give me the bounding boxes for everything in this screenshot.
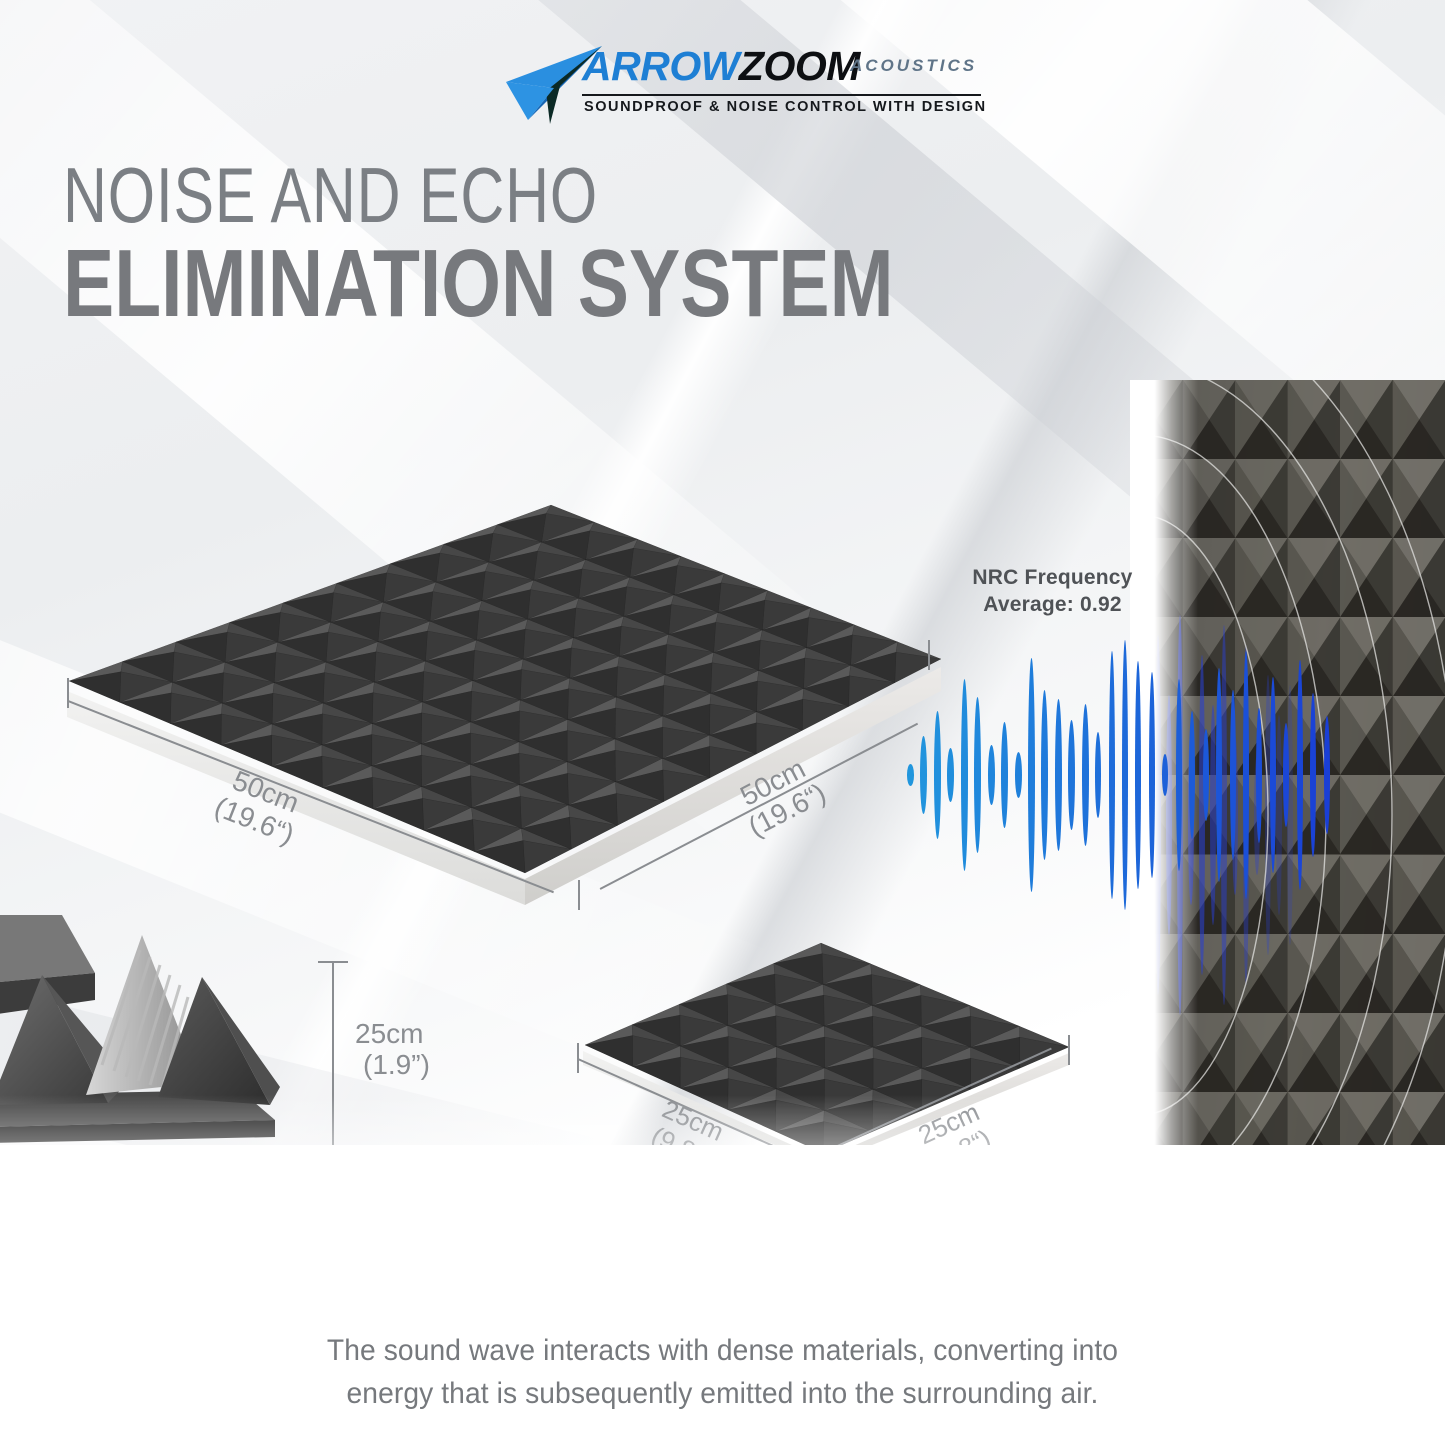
waveform-bar (947, 748, 954, 801)
logo-tagline: SOUNDPROOF & NOISE CONTROL WITH DESIGN (584, 99, 987, 115)
waveform-bar (1095, 732, 1101, 817)
waveform-bar (1082, 704, 1089, 846)
waveform-bar (920, 736, 927, 814)
large-foam-panel-image (55, 495, 945, 910)
dim-value-in: (1.9”) (363, 1049, 430, 1080)
logo-word-zoom: ZOOM (739, 43, 860, 89)
brand-logo: ARROWZOOM ACOUSTICS SOUNDPROOF & NOISE C… (498, 44, 998, 126)
headline-line-2: ELIMINATION SYSTEM (63, 238, 894, 329)
waveform-bar (1256, 708, 1262, 843)
waveform-bar (1149, 672, 1155, 878)
sound-waveform-chart (905, 640, 1335, 910)
waveform-bar (1015, 752, 1022, 798)
footer-caption: The sound wave interacts with dense mate… (0, 1330, 1445, 1415)
waveform-bar (1270, 677, 1276, 872)
waveform-bar (1203, 729, 1209, 821)
waveform-bar (1122, 640, 1128, 910)
waveform-bar (1041, 690, 1048, 861)
waveform-bar (1283, 723, 1289, 826)
waveform-bar (1109, 651, 1115, 900)
waveform-bar (907, 764, 914, 785)
waveform-bar (1028, 658, 1035, 892)
dim-tick (577, 1043, 579, 1073)
page-title: NOISE AND ECHO ELIMINATION SYSTEM (63, 160, 1101, 329)
dim-label-height: 25cm (1.9”) (355, 1018, 465, 1081)
waveform-bar (1176, 679, 1182, 871)
headline-line-1: NOISE AND ECHO (63, 160, 873, 232)
waveform-bar (1001, 722, 1008, 829)
waveform-bar (1324, 716, 1330, 833)
waveform-bar (1055, 699, 1062, 852)
waveform-bar (961, 679, 968, 871)
waveform-bar (1135, 661, 1141, 888)
waveform-bar (1230, 690, 1236, 861)
dim-value-cm: 25cm (355, 1018, 423, 1049)
waveform-bar (1310, 693, 1316, 856)
caption-line-1: The sound wave interacts with dense mate… (43, 1330, 1401, 1373)
waveform-bar (1216, 668, 1222, 881)
nrc-callout: NRC Frequency Average: 0.92 (955, 565, 1150, 619)
infographic-poster: ARROWZOOM ACOUSTICS SOUNDPROOF & NOISE C… (0, 0, 1445, 1445)
nrc-line-1: NRC Frequency (955, 565, 1150, 592)
logo-word-arrow: ARROW (582, 43, 739, 89)
logo-acoustics-label: ACOUSTICS (850, 56, 977, 76)
waveform-bar (1162, 754, 1168, 797)
waveform-bar (988, 745, 995, 805)
waveform-bar (1243, 651, 1249, 900)
caption-line-2: energy that is subsequently emitted into… (43, 1373, 1401, 1416)
dim-tick (1068, 1035, 1070, 1065)
waveform-bar (1297, 660, 1303, 891)
waveform-bar (974, 697, 981, 853)
logo-wordmark: ARROWZOOM (582, 46, 860, 87)
nrc-line-2: Average: 0.92 (955, 592, 1150, 619)
dim-tick (318, 961, 348, 963)
waveform-bar (934, 711, 941, 839)
logo-divider (582, 94, 981, 96)
waveform-bar (1189, 711, 1195, 839)
waveform-bar (1068, 720, 1075, 830)
dim-tick (578, 880, 580, 910)
dim-tick (67, 678, 69, 708)
large-panel-svg (55, 495, 945, 910)
